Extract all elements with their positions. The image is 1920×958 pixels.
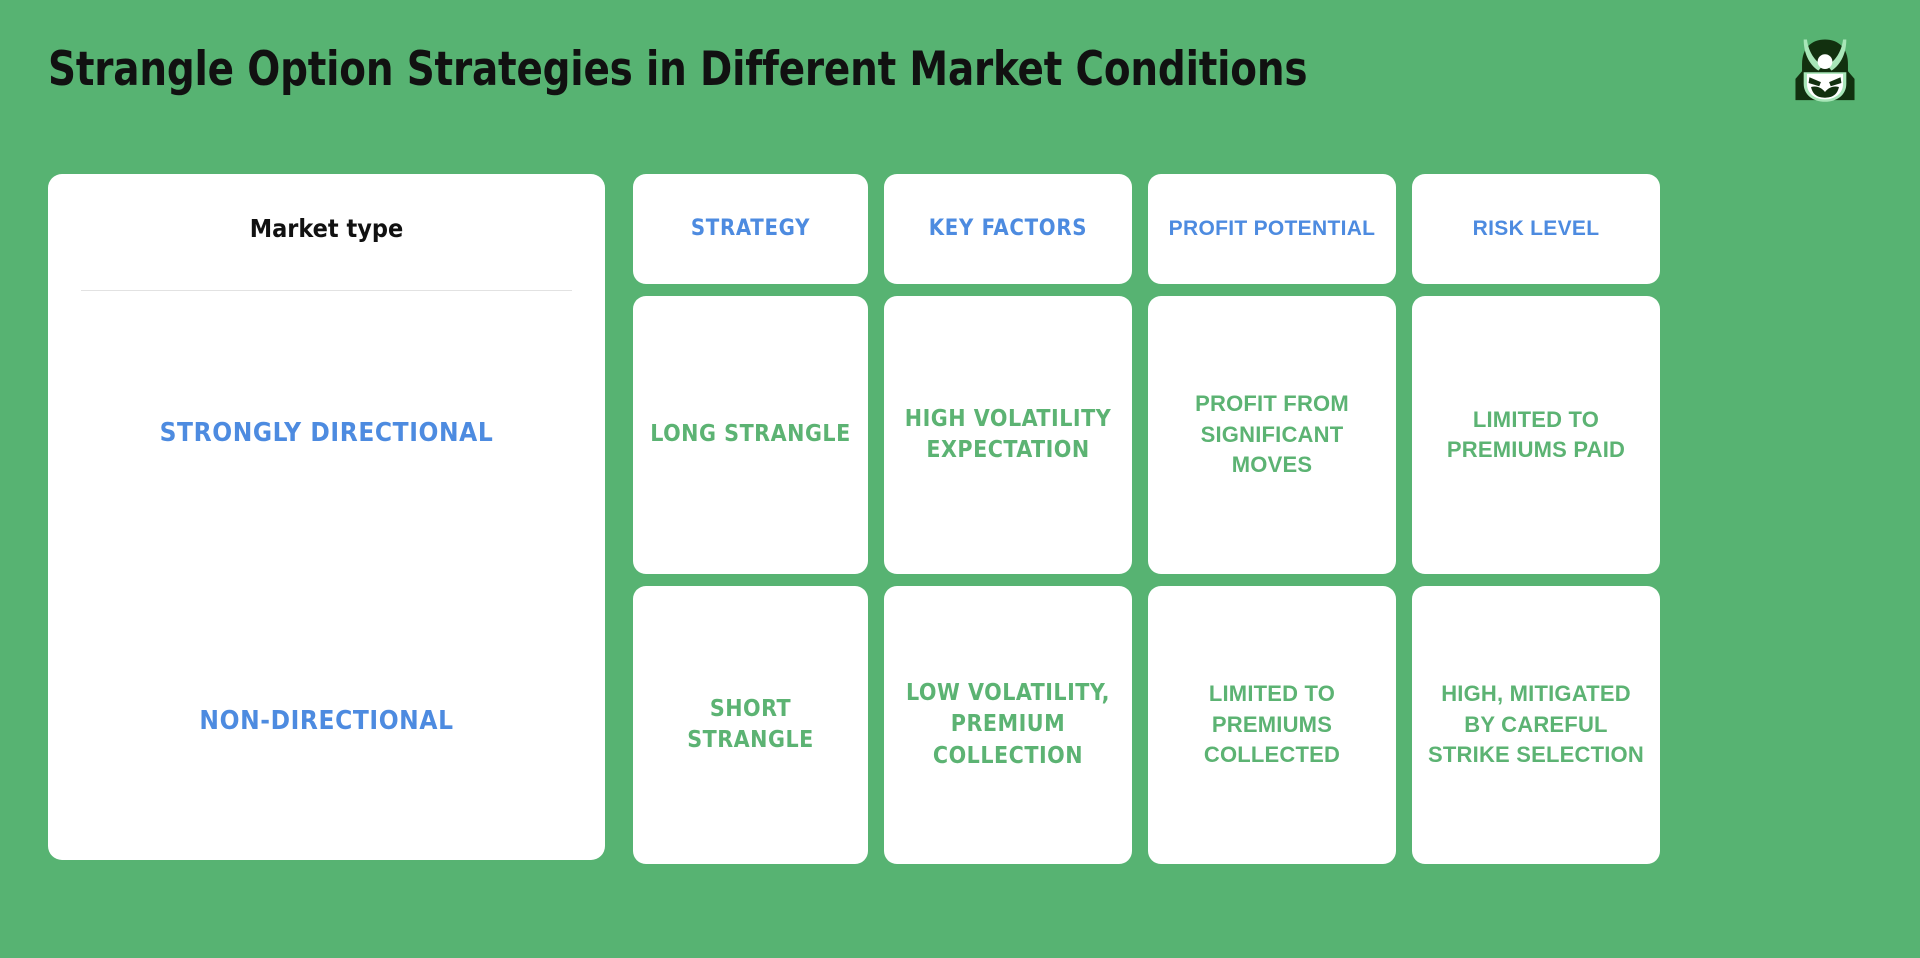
cell-text: HIGH, MITIGATED BY CAREFUL STRIKE SELECT… xyxy=(1412,679,1660,770)
cell-text: PROFIT FROM SIGNIFICANT MOVES xyxy=(1148,389,1396,480)
cell-strongly-directional-risk-level: LIMITED TO PREMIUMS PAID xyxy=(1412,296,1660,574)
cell-non-directional-profit-potential: LIMITED TO PREMIUMS COLLECTED xyxy=(1148,586,1396,864)
market-type-panel: Market type STRONGLY DIRECTIONAL NON-DIR… xyxy=(48,174,605,860)
panel-divider xyxy=(81,290,572,291)
cell-strongly-directional-profit-potential: PROFIT FROM SIGNIFICANT MOVES xyxy=(1148,296,1396,574)
page-header: Strangle Option Strategies in Different … xyxy=(0,0,1920,150)
page-title: Strangle Option Strategies in Different … xyxy=(48,42,1307,97)
samurai-helmet-logo xyxy=(1782,28,1868,110)
cell-strongly-directional-strategy: LONG STRANGLE xyxy=(633,296,868,574)
cell-non-directional-key-factors: LOW VOLATILITY, PREMIUM COLLECTION xyxy=(884,586,1132,864)
column-header-label: KEY FACTORS xyxy=(919,214,1097,243)
column-header-label: STRATEGY xyxy=(681,214,820,243)
market-type-label-strongly-directional: STRONGLY DIRECTIONAL xyxy=(48,418,605,448)
market-type-label-non-directional: NON-DIRECTIONAL xyxy=(48,706,605,736)
cell-text: LOW VOLATILITY, PREMIUM COLLECTION xyxy=(884,678,1132,771)
column-header-key-factors: KEY FACTORS xyxy=(884,174,1132,284)
cell-text: LIMITED TO PREMIUMS PAID xyxy=(1412,405,1660,466)
cell-text: HIGH VOLATILITY EXPECTATION xyxy=(884,404,1132,466)
column-header-risk-level: RISK LEVEL xyxy=(1412,174,1660,284)
cell-non-directional-risk-level: HIGH, MITIGATED BY CAREFUL STRIKE SELECT… xyxy=(1412,586,1660,864)
column-header-profit-potential: PROFIT POTENTIAL xyxy=(1148,174,1396,284)
cell-text: LIMITED TO PREMIUMS COLLECTED xyxy=(1148,679,1396,770)
market-type-panel-title: Market type xyxy=(48,214,605,243)
cell-text: LONG STRANGLE xyxy=(636,419,865,450)
column-header-label: PROFIT POTENTIAL xyxy=(1159,215,1386,243)
column-header-label: RISK LEVEL xyxy=(1463,215,1610,243)
cell-text: SHORT STRANGLE xyxy=(633,694,868,756)
column-header-strategy: STRATEGY xyxy=(633,174,868,284)
cell-non-directional-strategy: SHORT STRANGLE xyxy=(633,586,868,864)
comparison-matrix: Market type STRONGLY DIRECTIONAL NON-DIR… xyxy=(48,174,1672,860)
cell-strongly-directional-key-factors: HIGH VOLATILITY EXPECTATION xyxy=(884,296,1132,574)
